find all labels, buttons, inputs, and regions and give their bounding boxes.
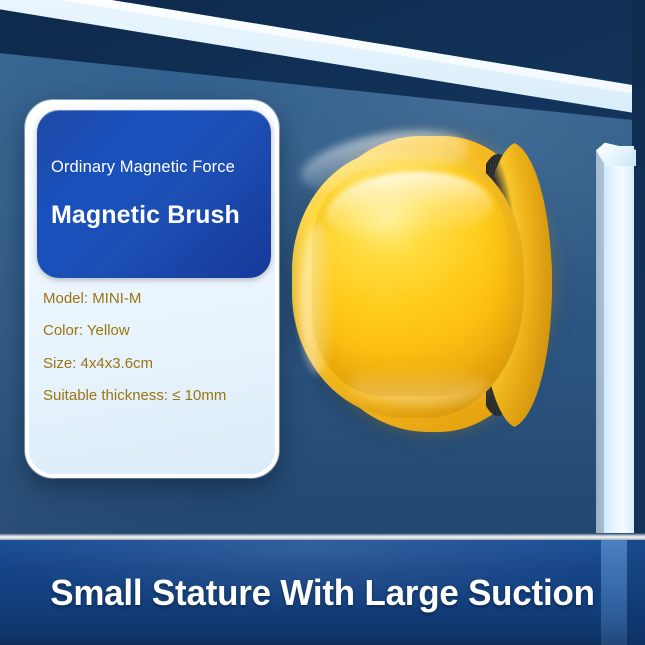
- product-info-card: Ordinary Magnetic Force Magnetic Brush M…: [25, 100, 279, 478]
- spec-item-thickness: Suitable thickness: ≤ 10mm: [43, 387, 273, 404]
- product-banner-image: Ordinary Magnetic Force Magnetic Brush M…: [0, 0, 645, 645]
- magnetic-brush-product: [290, 128, 555, 438]
- spec-item-color: Color: Yellow: [43, 322, 273, 339]
- spec-item-size: Size: 4x4x3.6cm: [43, 355, 273, 372]
- bottom-banner: Small Stature With Large Suction: [0, 540, 645, 645]
- card-kicker-text: Ordinary Magnetic Force: [51, 158, 257, 176]
- card-header-panel: Ordinary Magnetic Force Magnetic Brush: [37, 110, 271, 278]
- product-gloss-left: [300, 224, 334, 374]
- card-title-text: Magnetic Brush: [51, 202, 257, 230]
- product-spec-list: Model: MINI-M Color: Yellow Size: 4x4x3.…: [43, 290, 273, 404]
- product-gloss-bottom: [348, 366, 488, 406]
- banner-headline: Small Stature With Large Suction: [10, 540, 636, 645]
- spec-item-model: Model: MINI-M: [43, 290, 273, 307]
- banner-separator-line: [0, 533, 645, 540]
